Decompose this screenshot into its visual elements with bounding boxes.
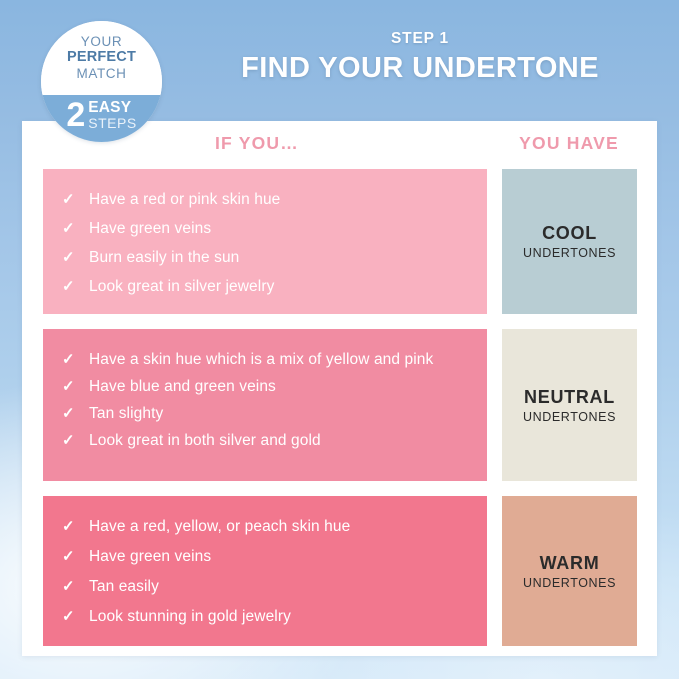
trait-text: Have blue and green veins [89,376,469,397]
list-item: ✓ Have green veins [61,546,469,567]
list-item: ✓ Tan easily [61,576,469,597]
list-item: ✓ Look great in silver jewelry [61,276,469,297]
badge-steps-row: 2 EASY STEPS [66,98,136,132]
undertone-sublabel: UNDERTONES [523,409,616,425]
list-item: ✓ Have a skin hue which is a mix of yell… [61,349,469,370]
check-icon: ✓ [61,403,89,424]
list-item: ✓ Have blue and green veins [61,376,469,397]
badge-bottom-half: 2 EASY STEPS [41,95,162,142]
table-row: ✓ Have a skin hue which is a mix of yell… [43,329,637,481]
badge-line-your: YOUR [81,34,122,49]
undertone-sublabel: UNDERTONES [523,575,616,591]
undertone-name: NEUTRAL [524,386,615,408]
trait-text: Look stunning in gold jewelry [89,606,469,627]
check-icon: ✓ [61,606,89,627]
traits-panel-cool: ✓ Have a red or pink skin hue ✓ Have gre… [43,169,487,314]
badge-line-match: MATCH [77,66,127,82]
page-header: STEP 1 FIND YOUR UNDERTONE [170,30,670,85]
badge-word-steps: STEPS [88,116,136,131]
check-icon: ✓ [61,430,89,451]
page-title: FIND YOUR UNDERTONE [170,51,670,85]
trait-text: Burn easily in the sun [89,247,469,268]
undertone-name: WARM [540,552,600,574]
badge-top-half: YOUR PERFECT MATCH [41,21,162,95]
check-icon: ✓ [61,218,89,239]
column-header-you-have: YOU HAVE [501,133,637,154]
check-icon: ✓ [61,349,89,370]
table-row: ✓ Have a red or pink skin hue ✓ Have gre… [43,169,637,314]
check-icon: ✓ [61,516,89,537]
undertone-sublabel: UNDERTONES [523,245,616,261]
undertone-swatch-warm: WARM UNDERTONES [502,496,637,646]
list-item: ✓ Burn easily in the sun [61,247,469,268]
trait-text: Have a red or pink skin hue [89,189,469,210]
table-row: ✓ Have a red, yellow, or peach skin hue … [43,496,637,646]
undertone-swatch-cool: COOL UNDERTONES [502,169,637,314]
traits-panel-warm: ✓ Have a red, yellow, or peach skin hue … [43,496,487,646]
trait-text: Have a red, yellow, or peach skin hue [89,516,469,537]
badge-step-count: 2 [66,98,84,132]
trait-text: Have green veins [89,546,469,567]
check-icon: ✓ [61,276,89,297]
content-card: IF YOU… YOU HAVE ✓ Have a red or pink sk… [22,121,657,656]
list-item: ✓ Look great in both silver and gold [61,430,469,451]
trait-text: Tan easily [89,576,469,597]
perfect-match-badge: YOUR PERFECT MATCH 2 EASY STEPS [41,21,162,142]
check-icon: ✓ [61,376,89,397]
check-icon: ✓ [61,576,89,597]
undertone-swatch-neutral: NEUTRAL UNDERTONES [502,329,637,481]
check-icon: ✓ [61,189,89,210]
list-item: ✓ Have green veins [61,218,469,239]
traits-panel-neutral: ✓ Have a skin hue which is a mix of yell… [43,329,487,481]
list-item: ✓ Tan slighty [61,403,469,424]
trait-text: Have green veins [89,218,469,239]
check-icon: ✓ [61,247,89,268]
undertone-rows: ✓ Have a red or pink skin hue ✓ Have gre… [43,169,637,646]
list-item: ✓ Have a red or pink skin hue [61,189,469,210]
check-icon: ✓ [61,546,89,567]
trait-text: Look great in both silver and gold [89,430,469,451]
trait-text: Have a skin hue which is a mix of yellow… [89,349,469,370]
list-item: ✓ Have a red, yellow, or peach skin hue [61,516,469,537]
step-label: STEP 1 [170,30,670,48]
list-item: ✓ Look stunning in gold jewelry [61,606,469,627]
trait-text: Tan slighty [89,403,469,424]
undertone-name: COOL [542,222,597,244]
column-header-if-you: IF YOU… [215,133,299,154]
badge-word-easy: EASY [88,100,131,116]
trait-text: Look great in silver jewelry [89,276,469,297]
badge-line-perfect: PERFECT [67,49,136,66]
badge-steps-text: EASY STEPS [88,98,136,131]
